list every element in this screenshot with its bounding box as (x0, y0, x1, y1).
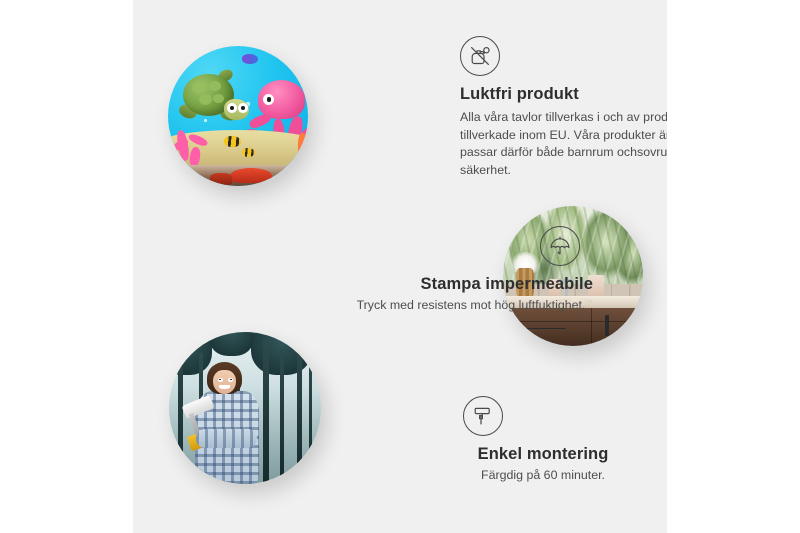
turtle-eye (227, 103, 237, 113)
no-fragrance-icon (460, 36, 500, 76)
painter-scene (169, 332, 321, 484)
drawer-handle (525, 328, 566, 330)
fish-yellow (224, 136, 241, 147)
smile (219, 385, 230, 389)
tree-canopy (169, 332, 212, 375)
coral-branch (298, 133, 306, 158)
turtle-eye (238, 103, 248, 113)
screenshot-stage: Luktfri produkt Alla våra tavlor tillver… (0, 0, 800, 533)
eye (218, 378, 223, 382)
tree-trunk (263, 340, 269, 484)
photo-aquarium[interactable] (168, 46, 308, 186)
feature-odourless: Luktfri produkt Alla våra tavlor tillver… (460, 36, 667, 179)
content-panel: Luktfri produkt Alla våra tavlor tillver… (133, 0, 667, 533)
paint-roller-icon (463, 396, 503, 436)
tree-trunk (178, 344, 183, 484)
crab-icon (210, 173, 232, 184)
turtle-shell-spot (199, 94, 212, 105)
feature-body: Färgdig på 60 minuter. (429, 467, 657, 485)
tree-trunk (297, 347, 302, 484)
cabinet-handle (632, 315, 636, 336)
feature-waterproof: Stampa impermeabile Tryck med resistens … (333, 226, 609, 315)
turtle-shell-spot (213, 94, 224, 103)
crab-icon (230, 168, 272, 183)
eye (228, 378, 233, 382)
feature-title: Stampa impermeabile (333, 275, 609, 294)
feature-easy: Enkel montering Färgdig på 60 minuter. (429, 396, 657, 485)
feature-body: Alla våra tavlor tillverkas i och av pro… (460, 109, 667, 179)
feature-body: Tryck med resistens mot hög luftfuktighe… (333, 297, 609, 315)
tree-trunk (309, 362, 312, 484)
fish-purple (242, 54, 257, 64)
cabinet-handle (605, 315, 609, 336)
feature-title: Luktfri produkt (460, 85, 667, 104)
aquarium-scene (168, 46, 308, 186)
feature-title: Enkel montering (429, 445, 657, 464)
tree-trunk (280, 350, 284, 484)
crossed-arms (196, 429, 257, 447)
drawer-divider (506, 321, 643, 322)
umbrella-icon (540, 226, 580, 266)
turtle-shell-spot (209, 81, 221, 91)
photo-painter[interactable] (169, 332, 321, 484)
turtle-shell-spot (192, 82, 205, 93)
fish-yellow (242, 148, 255, 156)
